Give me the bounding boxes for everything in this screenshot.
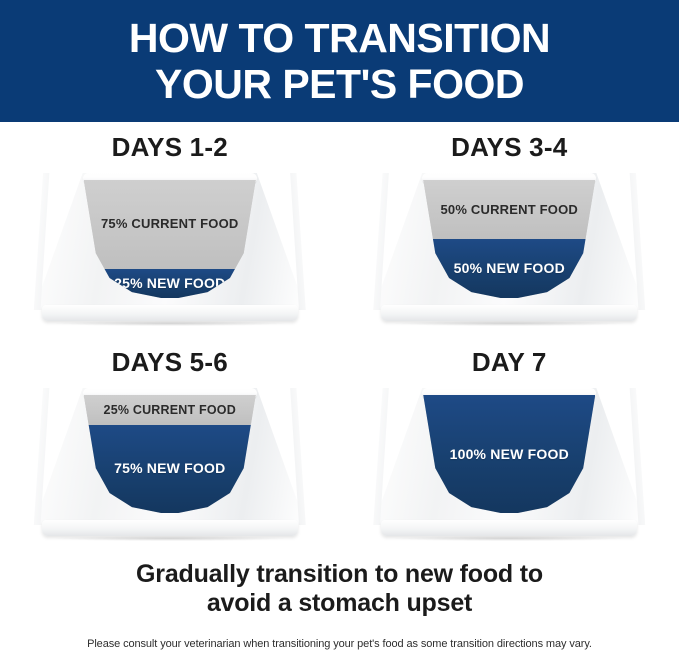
pet-bowl-icon: 100% NEW FOOD [373,388,645,536]
footer: Gradually transition to new food to avoi… [0,552,679,650]
new-food-label: 50% NEW FOOD [448,260,571,277]
current-food-fill: 75% CURRENT FOOD [84,180,256,269]
header-title-line-1: HOW TO TRANSITION [129,15,550,61]
current-food-label: 25% CURRENT FOOD [98,402,242,418]
new-food-label: 100% NEW FOOD [444,446,575,463]
tagline-line-2: avoid a stomach upset [207,589,472,618]
pet-bowl-icon: 75% CURRENT FOOD 25% NEW FOOD [34,173,306,321]
tagline-line-1: Gradually transition to new food to [136,560,543,589]
current-food-fill: 25% CURRENT FOOD [84,395,256,425]
header-title-line-2: YOUR PET'S FOOD [155,61,524,107]
header-banner: HOW TO TRANSITION YOUR PET'S FOOD [0,0,679,122]
step-day-label: DAYS 1-2 [112,132,228,163]
bowl-base [381,520,637,536]
pet-bowl-icon: 50% CURRENT FOOD 50% NEW FOOD [373,173,645,321]
step-card-3: DAYS 5-6 25% CURRENT FOOD 75% NEW FOOD [0,337,340,552]
step-card-4: DAY 7 100% NEW FOOD [340,337,679,552]
bowl-base [42,520,298,536]
step-card-2: DAYS 3-4 50% CURRENT FOOD 50% NEW FOOD [340,122,679,337]
disclaimer-text: Please consult your veterinarian when tr… [87,638,592,650]
current-food-label: 75% CURRENT FOOD [95,216,245,232]
bowl-base [381,305,637,321]
current-food-fill: 50% CURRENT FOOD [423,180,595,239]
step-day-label: DAYS 5-6 [112,347,228,378]
current-food-label: 50% CURRENT FOOD [434,202,584,218]
new-food-label: 75% NEW FOOD [108,460,231,477]
step-day-label: DAY 7 [472,347,547,378]
bowl-base [42,305,298,321]
step-day-label: DAYS 3-4 [451,132,567,163]
pet-bowl-icon: 25% CURRENT FOOD 75% NEW FOOD [34,388,306,536]
step-card-1: DAYS 1-2 75% CURRENT FOOD 25% NEW FOOD [0,122,340,337]
transition-steps-grid: DAYS 1-2 75% CURRENT FOOD 25% NEW FOOD D… [0,122,679,552]
